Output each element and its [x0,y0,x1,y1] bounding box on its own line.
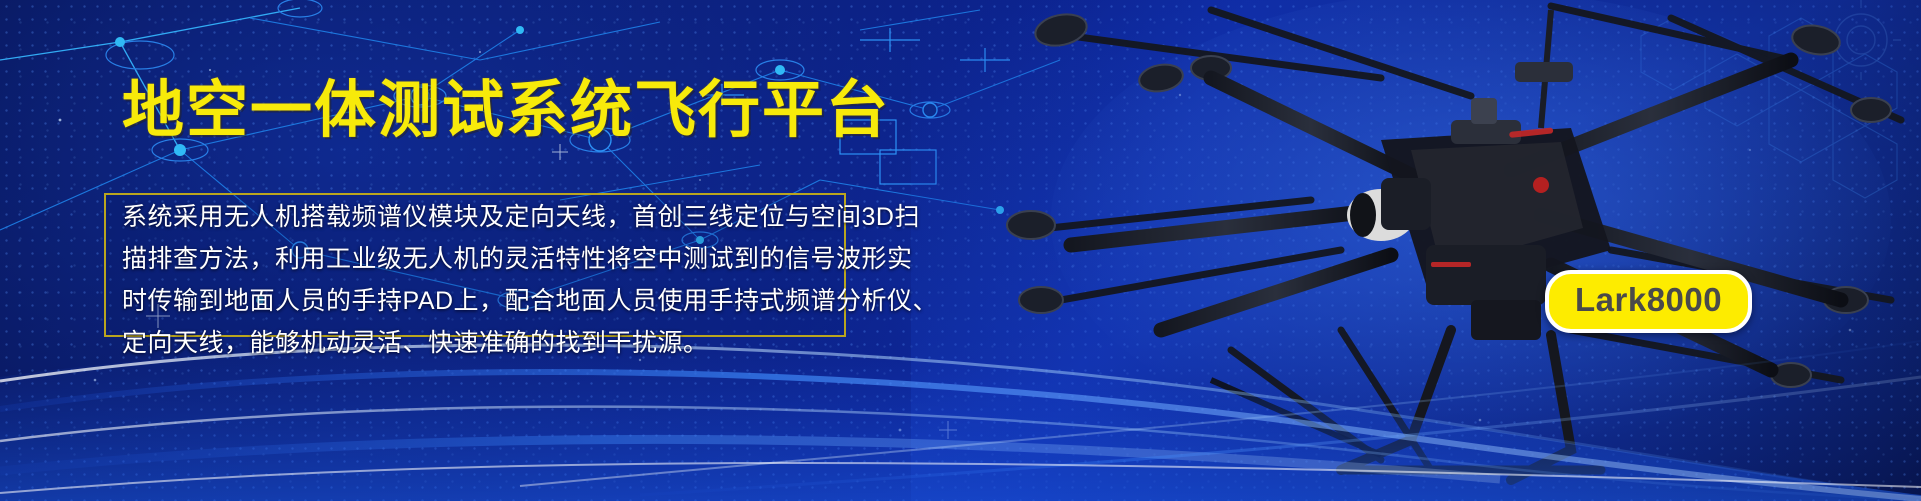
product-model-badge: Lark8000 [1545,270,1752,333]
description-line-3: 时传输到地面人员的手持PAD上，配合地面人员使用手持式频谱分析仪、 [112,280,852,322]
product-banner: 地空一体测试系统飞行平台 系统采用无人机搭载频谱仪模块及定向天线，首创三线定位与… [0,0,1921,501]
description-line-4: 定向天线，能够机动灵活、快速准确的找到干扰源。 [112,322,852,364]
description-line-1: 系统采用无人机搭载频谱仪模块及定向天线，首创三线定位与空间3D扫 [112,196,852,238]
description-text: 系统采用无人机搭载频谱仪模块及定向天线，首创三线定位与空间3D扫 描排查方法，利… [112,196,852,364]
page-title: 地空一体测试系统飞行平台 [122,78,890,143]
description-line-2: 描排查方法，利用工业级无人机的灵活特性将空中测试到的信号波形实 [112,238,852,280]
